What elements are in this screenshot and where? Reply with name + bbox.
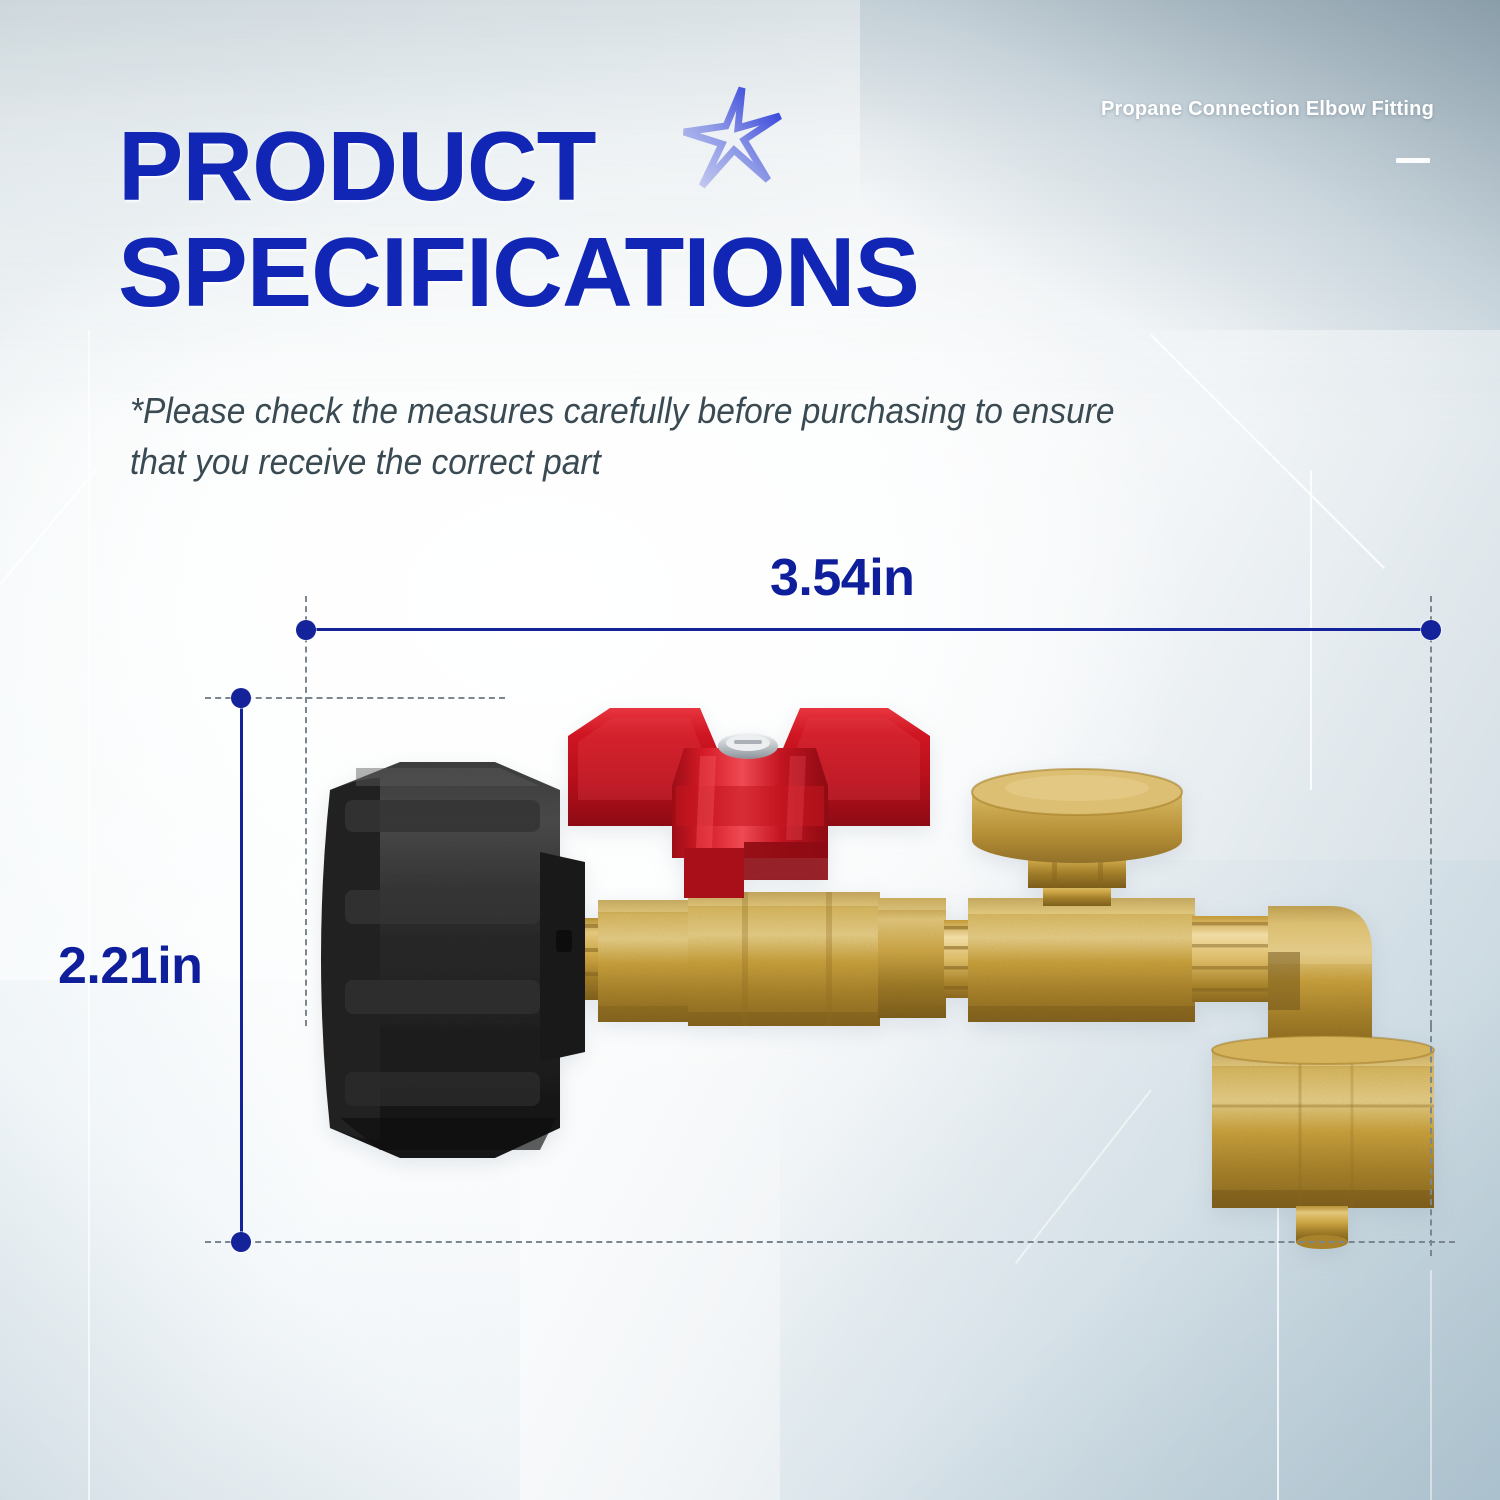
brass-ball-valve-body xyxy=(560,892,974,1026)
width-dimension-line xyxy=(305,628,1431,631)
height-dimension-dot-bottom xyxy=(231,1232,251,1252)
handle-screw xyxy=(718,733,778,759)
height-dimension-line xyxy=(240,697,243,1242)
red-butterfly-handle xyxy=(568,708,930,898)
extension-line-left xyxy=(305,596,307,1026)
width-dimension-dot-left xyxy=(296,620,316,640)
height-dimension-label: 2.21in xyxy=(58,936,202,996)
width-dimension-label: 3.54in xyxy=(770,548,914,608)
height-dimension-dot-top xyxy=(231,688,251,708)
width-dimension-dot-right xyxy=(1421,620,1441,640)
qcc1-black-nut xyxy=(321,762,585,1158)
extension-line-right xyxy=(1430,596,1432,1026)
brass-hex-nut xyxy=(1212,1036,1434,1208)
extension-line-right-lower xyxy=(1430,1026,1432,1256)
brass-tee-cap xyxy=(968,769,1195,1022)
product-spec-page: Propane Connection Elbow Fitting PRODUCT… xyxy=(0,0,1500,1500)
extension-line-bottom xyxy=(205,1241,1455,1243)
product-image xyxy=(0,0,1500,1500)
